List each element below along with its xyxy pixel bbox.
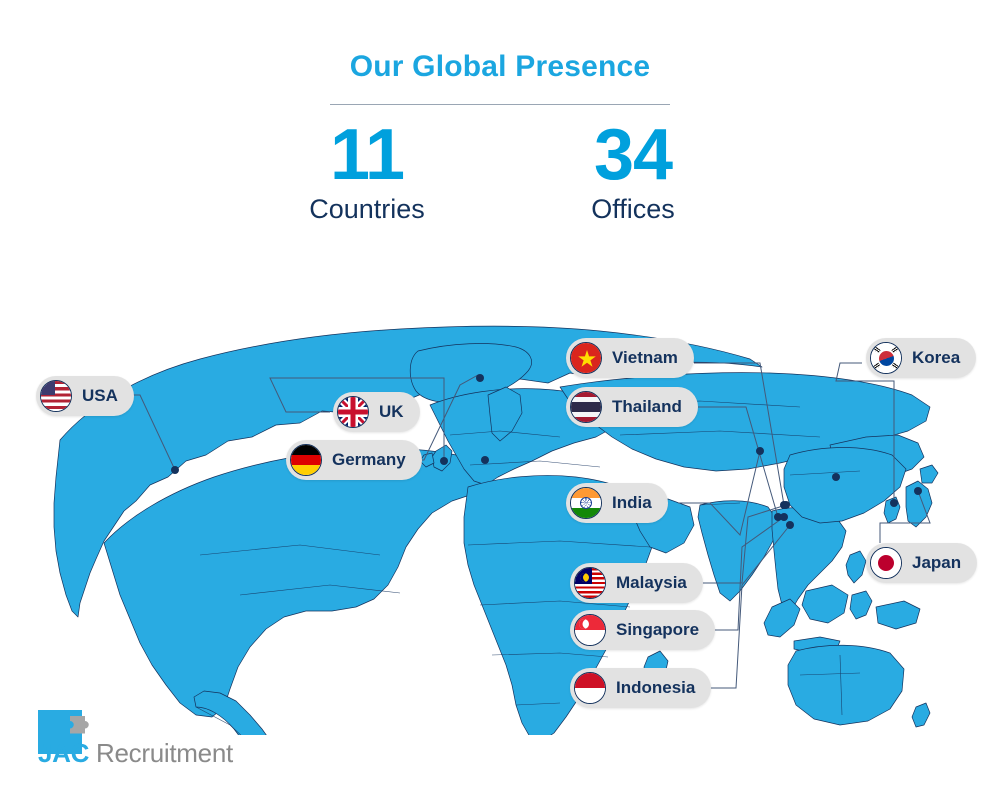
logo-brand: JAC [38, 738, 89, 768]
page-title: Our Global Presence [0, 0, 1000, 84]
country-pill-malaysia-label: Malaysia [616, 573, 687, 593]
country-pill-indonesia-label: Indonesia [616, 678, 695, 698]
marker-germany [476, 374, 484, 382]
logo-wordmark: JAC Recruitment [38, 738, 233, 769]
malaysia-flag-icon [574, 567, 606, 599]
country-pill-usa-label: USA [82, 386, 118, 406]
land-japan-north [920, 465, 938, 483]
country-pill-usa[interactable]: USA [36, 376, 134, 416]
land-sulawesi [850, 591, 872, 619]
country-pill-uk[interactable]: UK [333, 392, 420, 432]
marker-india [756, 447, 764, 455]
marker-malaysia [782, 501, 790, 509]
country-pill-korea[interactable]: Korea [866, 338, 976, 378]
country-pill-uk-label: UK [379, 402, 404, 422]
map-landmasses [54, 326, 938, 735]
header: Our Global Presence [0, 0, 1000, 105]
marker-singapore [780, 513, 788, 521]
singapore-flag-icon [574, 614, 606, 646]
logo-suffix: Recruitment [89, 738, 233, 768]
marker-korea [890, 499, 898, 507]
uk-flag-icon [337, 396, 369, 428]
marker-china [832, 473, 840, 481]
marker-uk [440, 457, 448, 465]
country-pill-indonesia[interactable]: Indonesia [570, 668, 711, 708]
stat-countries-value: 11 [282, 118, 452, 192]
country-pill-india-label: India [612, 493, 652, 513]
marker-usa [171, 466, 179, 474]
world-map-svg [0, 255, 1000, 735]
stats-row: 11 Countries 34 Offices [0, 118, 1000, 225]
stat-countries-label: Countries [282, 194, 452, 225]
korea-flag-icon [870, 342, 902, 374]
world-map [0, 255, 1000, 735]
country-pill-thailand[interactable]: Thailand [566, 387, 698, 427]
puzzle-piece-icon [62, 708, 96, 742]
thailand-flag-icon [570, 391, 602, 423]
india-flag-icon [570, 487, 602, 519]
stat-offices: 34 Offices [548, 118, 718, 225]
land-india [698, 501, 778, 601]
marker-japan [914, 487, 922, 495]
marker-indonesia [786, 521, 794, 529]
country-pill-malaysia[interactable]: Malaysia [570, 563, 703, 603]
country-pill-korea-label: Korea [912, 348, 960, 368]
marker-germany-2 [481, 456, 489, 464]
country-pill-thailand-label: Thailand [612, 397, 682, 417]
land-papua [876, 601, 920, 629]
japan-flag-icon [870, 547, 902, 579]
land-borneo [802, 585, 848, 623]
germany-flag-icon [290, 444, 322, 476]
country-pill-singapore-label: Singapore [616, 620, 699, 640]
land-sumatra [764, 599, 800, 637]
title-divider [330, 104, 670, 105]
country-pill-japan-label: Japan [912, 553, 961, 573]
country-pill-vietnam[interactable]: Vietnam [566, 338, 694, 378]
land-canada-usa [104, 449, 492, 717]
stat-countries: 11 Countries [282, 118, 452, 225]
jac-recruitment-logo: JAC Recruitment [38, 710, 298, 780]
indonesia-flag-icon [574, 672, 606, 704]
country-pill-india[interactable]: India [566, 483, 668, 523]
land-australia [788, 645, 904, 725]
land-new-zealand [912, 703, 930, 727]
stat-offices-label: Offices [548, 194, 718, 225]
country-pill-germany[interactable]: Germany [286, 440, 422, 480]
stat-offices-value: 34 [548, 118, 718, 192]
vietnam-flag-icon [570, 342, 602, 374]
country-pill-japan[interactable]: Japan [866, 543, 977, 583]
country-pill-singapore[interactable]: Singapore [570, 610, 715, 650]
country-pill-vietnam-label: Vietnam [612, 348, 678, 368]
usa-flag-icon [40, 380, 72, 412]
country-pill-germany-label: Germany [332, 450, 406, 470]
land-philippines [846, 551, 866, 583]
